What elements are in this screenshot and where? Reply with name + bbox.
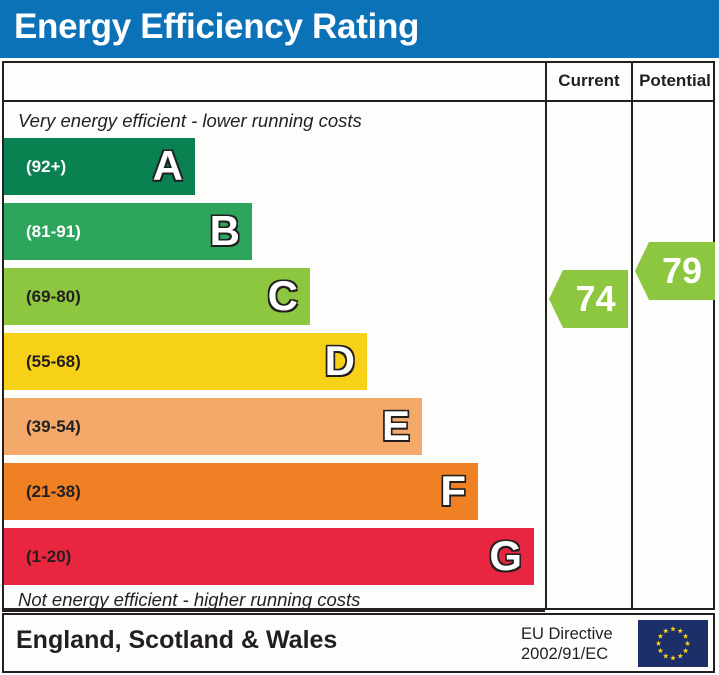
- header-separator: [2, 100, 715, 102]
- band-row-g: (1-20)G: [4, 528, 534, 585]
- column-divider-potential: [631, 61, 633, 610]
- band-range-c: (69-80): [26, 287, 81, 307]
- band-range-d: (55-68): [26, 352, 81, 372]
- rating-arrow-current: 74: [549, 270, 628, 328]
- band-letter-c: C: [268, 275, 298, 317]
- title-bar: Energy Efficiency Rating: [0, 0, 719, 58]
- column-divider-current: [545, 61, 547, 610]
- caption-top: Very energy efficient - lower running co…: [18, 110, 362, 132]
- band-range-a: (92+): [26, 157, 66, 177]
- band-letter-d: D: [325, 340, 355, 382]
- eu-flag-icon: [638, 620, 708, 667]
- band-letter-b: B: [210, 210, 240, 252]
- band-letter-g: G: [489, 535, 522, 577]
- band-letter-e: E: [382, 405, 410, 447]
- band-row-c: (69-80)C: [4, 268, 310, 325]
- caption-bottom: Not energy efficient - higher running co…: [18, 589, 360, 611]
- band-letter-f: F: [440, 470, 466, 512]
- band-row-b: (81-91)B: [4, 203, 252, 260]
- band-row-f: (21-38)F: [4, 463, 478, 520]
- rating-arrow-potential: 79: [635, 242, 715, 300]
- band-row-a: (92+)A: [4, 138, 195, 195]
- directive-line-1: EU Directive: [521, 624, 613, 644]
- band-range-f: (21-38): [26, 482, 81, 502]
- band-range-g: (1-20): [26, 547, 71, 567]
- footer-region-label: England, Scotland & Wales: [16, 626, 337, 655]
- eu-stars: [638, 620, 708, 667]
- band-row-e: (39-54)E: [4, 398, 422, 455]
- column-header-current: Current: [547, 68, 631, 94]
- column-header-potential: Potential: [633, 68, 717, 94]
- band-letter-a: A: [153, 145, 183, 187]
- footer-directive: EU Directive 2002/91/EC: [521, 624, 613, 664]
- page-title: Energy Efficiency Rating: [14, 7, 419, 47]
- band-range-e: (39-54): [26, 417, 81, 437]
- directive-line-2: 2002/91/EC: [521, 644, 613, 664]
- band-row-d: (55-68)D: [4, 333, 367, 390]
- caption-separator-bottom: [2, 610, 545, 612]
- band-range-b: (81-91): [26, 222, 81, 242]
- epc-certificate: Energy Efficiency Rating Current Potenti…: [0, 0, 719, 675]
